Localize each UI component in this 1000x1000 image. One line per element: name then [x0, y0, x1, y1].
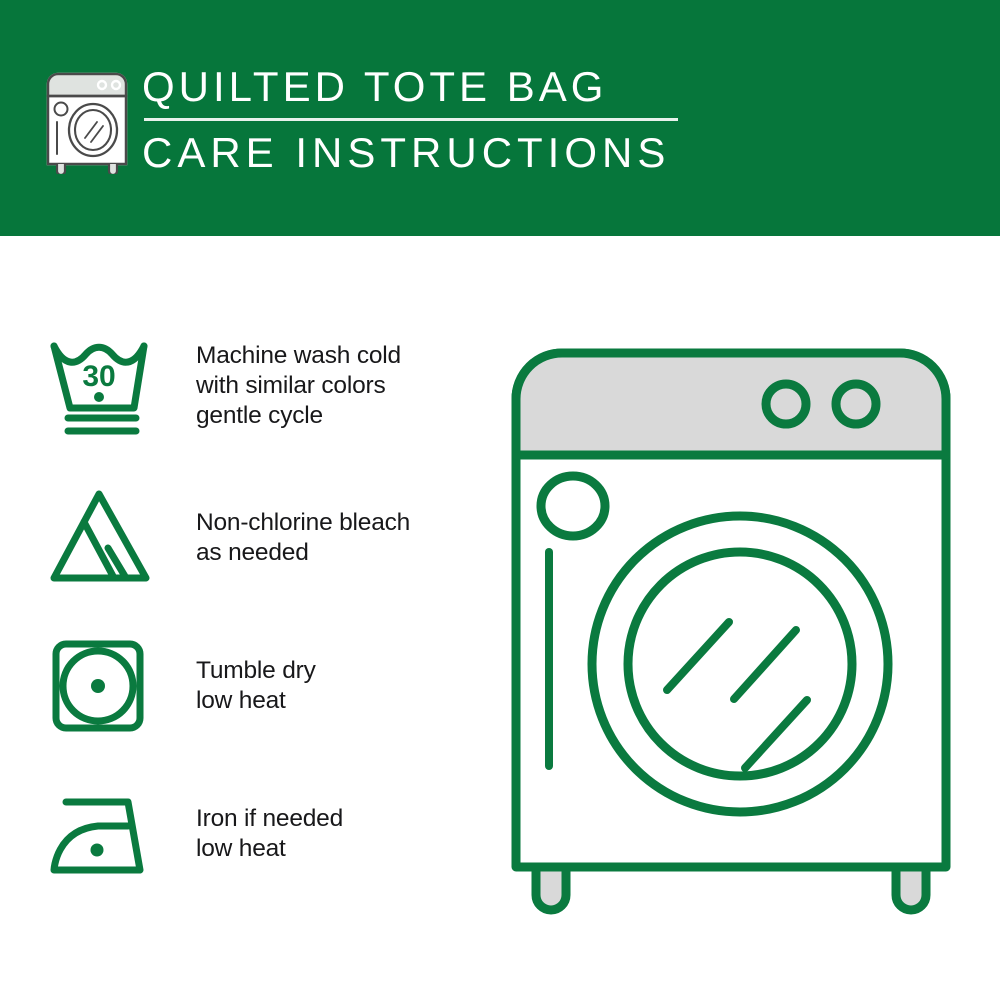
care-text: Non-chlorine bleach as needed — [196, 486, 410, 568]
non-chlorine-bleach-triangle-icon — [46, 486, 158, 590]
washing-machine-icon — [44, 70, 130, 174]
care-text: Tumble dry low heat — [196, 636, 316, 716]
tumble-dry-low-heat-icon — [46, 636, 158, 740]
care-row: Iron if needed low heat — [46, 786, 476, 936]
care-text: Iron if needed low heat — [196, 786, 343, 864]
care-row: 30 Machine wash cold with similar colors… — [46, 336, 476, 486]
washing-machine-svg — [492, 334, 970, 934]
wash-basin-30-gentle-icon: 30 — [46, 336, 158, 440]
content-area: 30 Machine wash cold with similar colors… — [0, 236, 1000, 1000]
page-title: QUILTED TOTE BAG — [142, 62, 678, 112]
svg-text:30: 30 — [82, 360, 115, 393]
header-title-block: QUILTED TOTE BAG CARE INSTRUCTIONS — [142, 62, 678, 177]
care-row: Tumble dry low heat — [46, 636, 476, 786]
washer-control-panel — [516, 353, 946, 455]
care-row: Non-chlorine bleach as needed — [46, 486, 476, 636]
washer-foot-left — [536, 867, 566, 910]
page-subtitle: CARE INSTRUCTIONS — [142, 129, 678, 177]
care-text: Machine wash cold with similar colors ge… — [196, 336, 401, 431]
header-content: QUILTED TOTE BAG CARE INSTRUCTIONS — [44, 62, 678, 177]
title-divider — [144, 118, 678, 121]
care-instruction-list: 30 Machine wash cold with similar colors… — [46, 336, 476, 936]
washing-machine-illustration — [492, 334, 970, 934]
iron-low-heat-icon — [46, 786, 158, 890]
washer-foot-right — [896, 867, 926, 910]
header-banner: QUILTED TOTE BAG CARE INSTRUCTIONS — [0, 0, 1000, 236]
